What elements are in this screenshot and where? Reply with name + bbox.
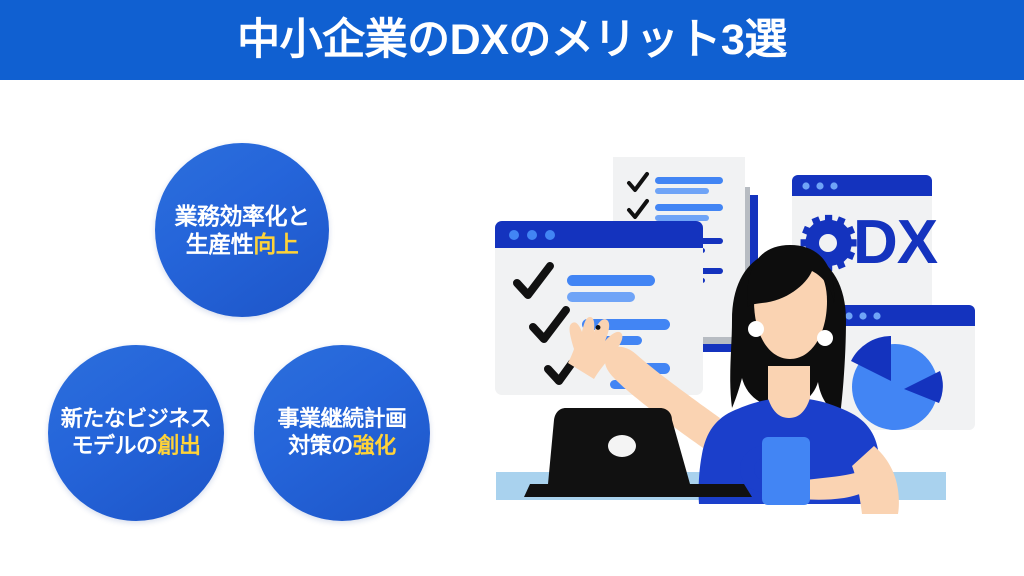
benefit-line2-highlight: 強化 <box>353 433 396 458</box>
pie-window-dot-2 <box>859 312 866 319</box>
checklist-window-dot-3 <box>545 230 555 240</box>
checklist-line-1a <box>567 275 655 286</box>
benefit-label-efficiency: 業務効率化と 生産性向上 <box>169 202 316 258</box>
laptop-logo <box>608 435 636 457</box>
pie-window-dot-3 <box>873 312 880 319</box>
benefit-line1: 事業継続計画 <box>277 406 406 431</box>
document-line-1b <box>655 188 709 194</box>
checklist-line-2a <box>582 319 670 330</box>
dx-window-label: DX <box>853 208 938 277</box>
benefit-line1: 業務効率化と <box>175 203 310 229</box>
benefit-label-bcp: 事業継続計画 対策の強化 <box>271 406 412 460</box>
pie-window-dot-1 <box>845 312 852 319</box>
pie-chart-window[interactable] <box>835 305 975 430</box>
benefit-line2-highlight: 向上 <box>253 231 298 257</box>
checklist-window-dot-2 <box>527 230 537 240</box>
checklist-window-dot-1 <box>509 230 519 240</box>
dx-window-dot-3 <box>830 182 837 189</box>
page-title: 中小企業のDXのメリット3選 <box>237 19 787 62</box>
earring-left <box>748 321 764 337</box>
document-line-1a <box>655 177 723 184</box>
benefit-circle-bcp[interactable]: 事業継続計画 対策の強化 <box>254 345 430 521</box>
dx-illustration: DX <box>470 95 1024 535</box>
benefit-line2-highlight: 創出 <box>157 433 200 458</box>
pie-window-titlebar <box>835 305 975 326</box>
laptop-base <box>524 484 752 497</box>
checklist-window-titlebar <box>495 221 703 248</box>
document-line-2a <box>655 204 723 211</box>
header-banner: 中小企業のDXのメリット3選 <box>0 0 1024 80</box>
checklist-line-1b <box>567 292 635 302</box>
benefit-line2-plain: 対策の <box>288 433 353 458</box>
benefit-line1: 新たなビジネス <box>61 406 212 431</box>
document-line-2b <box>655 215 709 221</box>
benefit-circle-new-business-model[interactable]: 新たなビジネス モデルの創出 <box>48 345 224 521</box>
slide-canvas: 中小企業のDXのメリット3選 業務効率化と 生産性向上 新たなビジネス モデルの… <box>0 0 1024 576</box>
earring-right <box>817 330 833 346</box>
dx-window-titlebar <box>792 175 932 196</box>
benefit-circle-efficiency[interactable]: 業務効率化と 生産性向上 <box>155 143 329 317</box>
mug-body <box>762 437 810 505</box>
dx-window-dot-2 <box>816 182 823 189</box>
benefit-line2-plain: モデルの <box>71 433 157 458</box>
benefit-label-new-business-model: 新たなビジネス モデルの創出 <box>55 406 218 460</box>
benefit-line2-plain: 生産性 <box>186 231 254 257</box>
fingernail-dot <box>596 325 601 330</box>
dx-window-dot-1 <box>802 182 809 189</box>
